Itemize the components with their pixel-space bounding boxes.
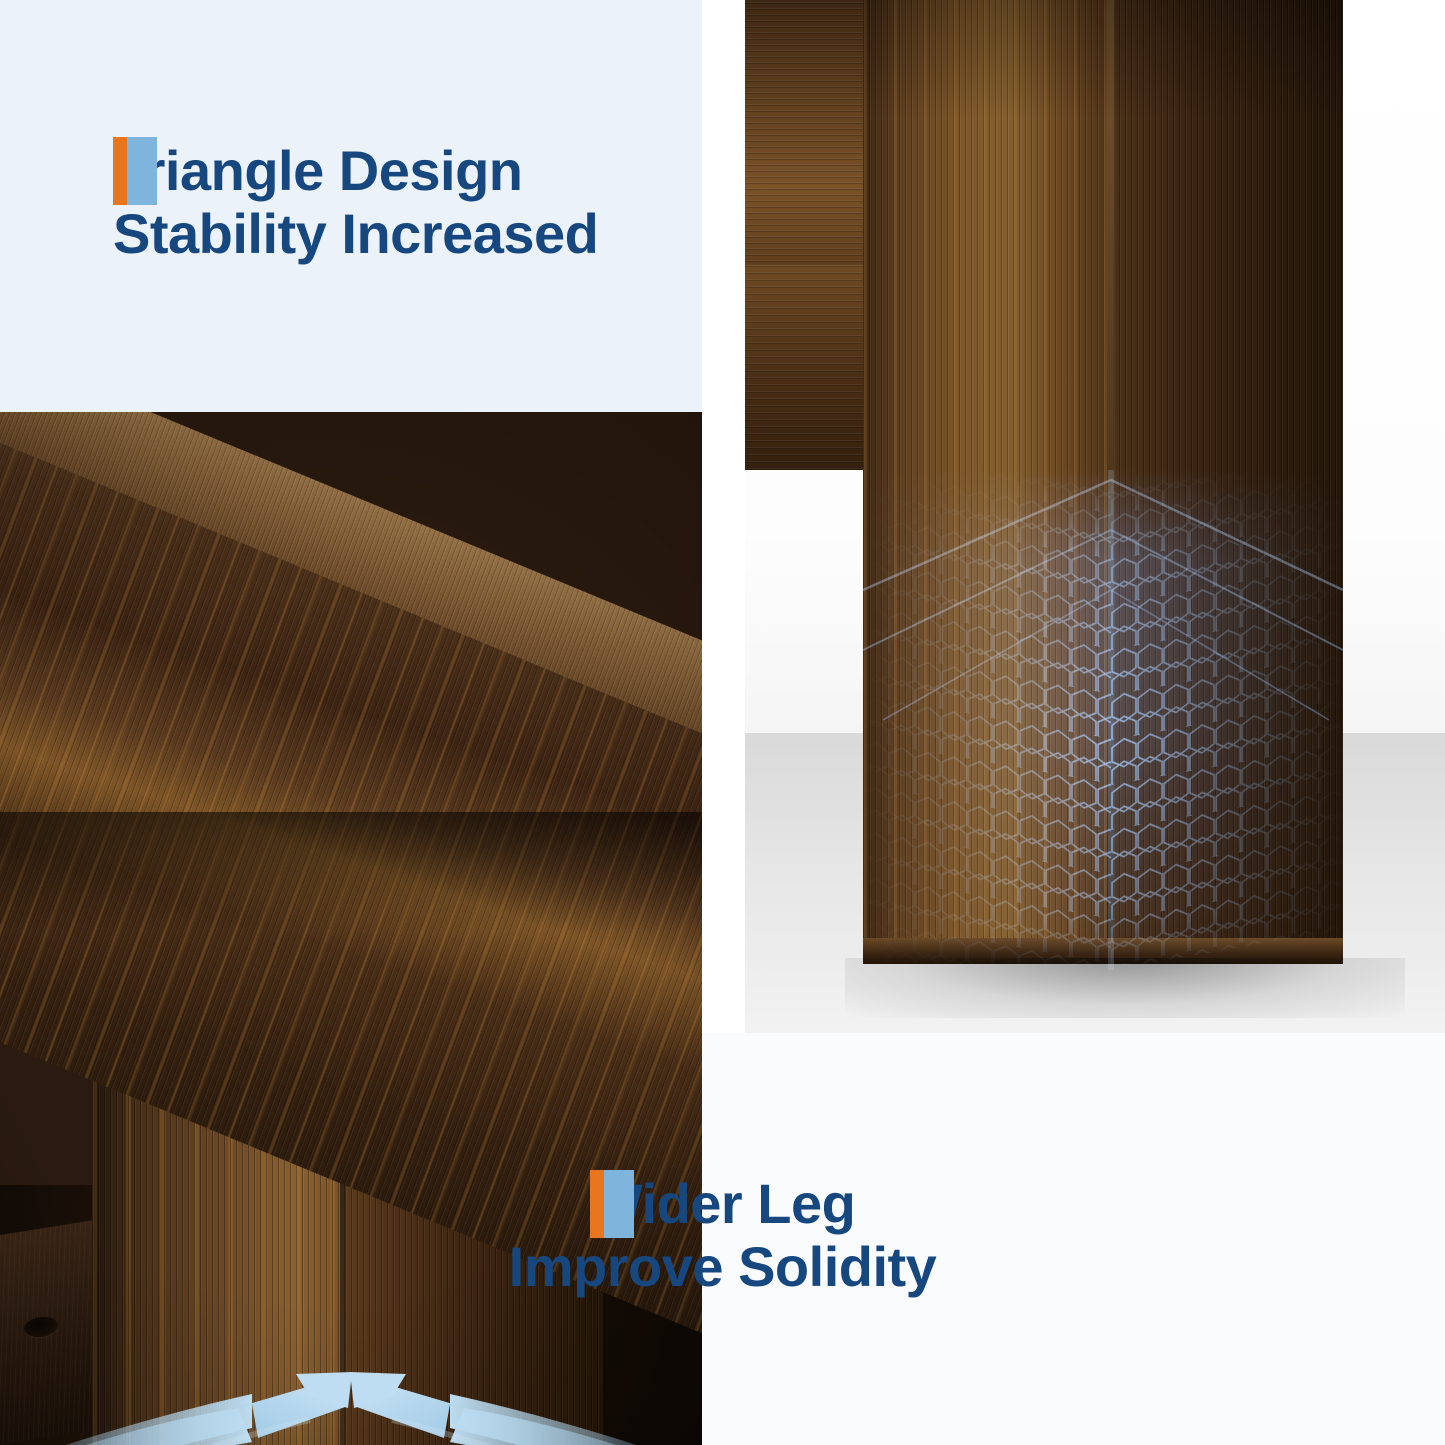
headline-text-1: Triangle Design [113,139,523,202]
leg-post-corner-seam [1107,0,1114,960]
accent-bar-orange [113,137,127,205]
leg-post-left-face [863,0,1113,960]
leg-post-top-shadow [863,0,1343,120]
bottom-right-headline: Wider Leg Improve Solidity [0,1173,1445,1298]
leg-post-right-face [1113,0,1343,960]
headline-line-2: Improve Solidity [0,1236,1445,1299]
accent-bar-orange [590,1170,604,1238]
wider-leg-photo [745,0,1445,1033]
infographic-canvas: Triangle Design Stability Increased Wide… [0,0,1445,1445]
leg-post-contact-shadow [845,958,1405,1018]
headline-line-2: Stability Increased [113,203,598,266]
headline-line-1: Triangle Design [113,140,598,203]
accent-bar-blue [604,1170,634,1238]
top-left-headline: Triangle Design Stability Increased [113,140,598,265]
headline-line-1: Wider Leg [0,1173,1445,1236]
accent-bar-blue [127,137,157,205]
